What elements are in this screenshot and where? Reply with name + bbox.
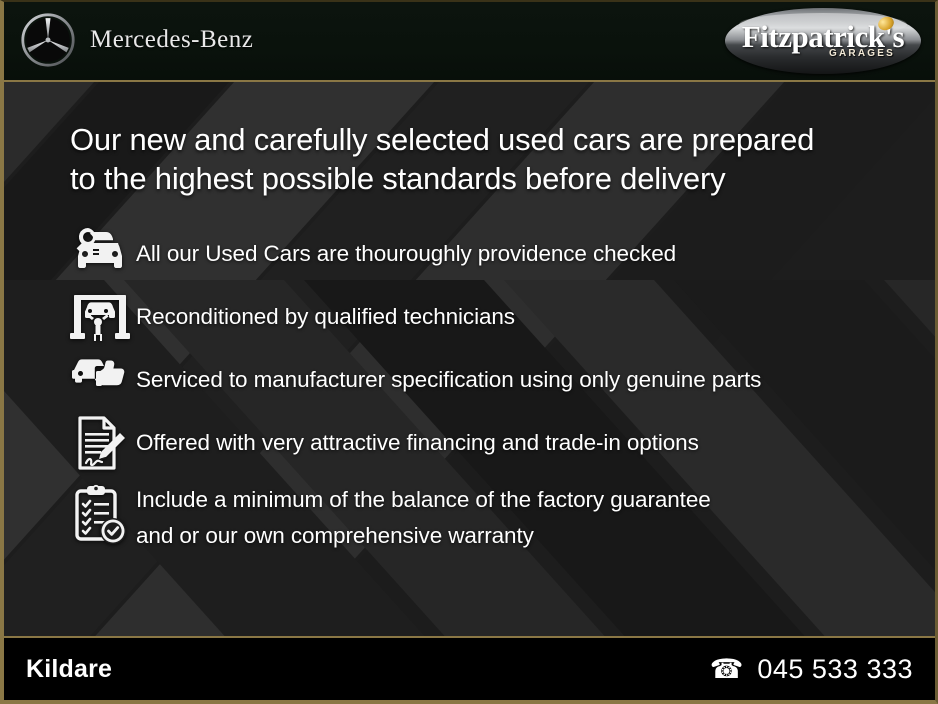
telephone-icon: ☎ [710, 656, 744, 683]
footer-bar: Kildare ☎ 045 533 333 [4, 636, 935, 700]
list-item: Include a minimum of the balance of the … [64, 476, 935, 560]
car-inspection-magnifier-icon [64, 224, 136, 276]
list-item-text: Reconditioned by qualified technicians [136, 287, 515, 335]
car-on-lift-mechanic-icon [64, 287, 136, 343]
content-wrapper: Our new and carefully selected used cars… [4, 80, 935, 560]
headline-line-2: to the highest possible standards before… [70, 159, 880, 198]
header-bar: Mercedes-Benz Fitzpatrick's GARAGES [4, 2, 935, 82]
headline-line-1: Our new and carefully selected used cars… [70, 120, 880, 159]
list-item-text: Include a minimum of the balance of the … [136, 476, 711, 554]
main-content-area: Our new and carefully selected used cars… [4, 80, 935, 636]
benefits-list: All our Used Cars are thouroughly provid… [64, 224, 935, 560]
dealer-location: Kildare [26, 655, 112, 684]
fitzpatricks-subtitle: GARAGES [829, 48, 895, 59]
dealer-promo-slide: Mercedes-Benz Fitzpatrick's GARAGES [0, 0, 938, 704]
list-item: Reconditioned by qualified technicians [64, 287, 935, 347]
list-item: Offered with very attractive financing a… [64, 413, 935, 473]
car-thumbs-up-icon [64, 350, 136, 394]
clipboard-checklist-check-icon [64, 476, 136, 546]
phone-number: 045 533 333 [757, 654, 913, 685]
mercedes-star-icon [20, 12, 76, 68]
list-item-text: Serviced to manufacturer specification u… [136, 350, 761, 398]
phone-contact[interactable]: ☎ 045 533 333 [710, 654, 913, 685]
headline: Our new and carefully selected used cars… [70, 120, 880, 198]
list-item-text: Offered with very attractive financing a… [136, 413, 699, 461]
document-pen-signature-icon [64, 413, 136, 471]
list-item-text: All our Used Cars are thouroughly provid… [136, 224, 676, 272]
mercedes-benz-wordmark: Mercedes-Benz [90, 26, 253, 54]
fitzpatricks-logo[interactable]: Fitzpatrick's GARAGES [725, 8, 921, 74]
list-item: Serviced to manufacturer specification u… [64, 350, 935, 410]
list-item: All our Used Cars are thouroughly provid… [64, 224, 935, 284]
mercedes-benz-brand: Mercedes-Benz [20, 12, 253, 68]
